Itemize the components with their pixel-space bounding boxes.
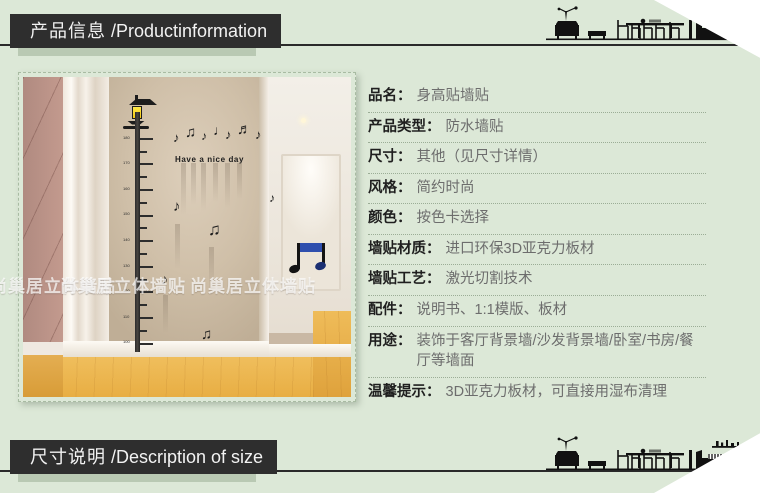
ruler-label: 100 bbox=[123, 339, 130, 344]
header-title-en-bottom: /Description of size bbox=[111, 448, 263, 466]
furniture-silhouette-strip-top bbox=[546, 2, 754, 44]
spec-value: 说明书、1:1模版、板材 bbox=[417, 300, 568, 321]
sticker-shadow bbox=[225, 163, 230, 208]
spec-label: 配件： bbox=[368, 300, 412, 321]
spec-row: 风格： 简约时尚 bbox=[368, 174, 706, 205]
product-spec-list: 品名： 身高贴墙贴 产品类型： 防水墙贴 尺寸： 其他（见尺寸详情） 风格： 简… bbox=[368, 82, 706, 407]
spec-label: 尺寸： bbox=[368, 147, 412, 168]
ruler-tick bbox=[140, 330, 147, 332]
header-box-top: 产品信息 /Productinformation bbox=[10, 14, 281, 48]
spec-label: 温馨提示： bbox=[368, 382, 441, 403]
lamp-roof-icon bbox=[129, 99, 157, 105]
spec-value: 进口环保3D亚克力板材 bbox=[446, 239, 595, 260]
spec-row: 品名： 身高贴墙贴 bbox=[368, 82, 706, 113]
ruler-label: 160 bbox=[123, 186, 130, 191]
ruler-tick bbox=[140, 317, 153, 319]
header-box-bottom: 尺寸说明 /Description of size bbox=[10, 440, 277, 474]
sticker-shadow bbox=[175, 224, 180, 269]
ruler-tick bbox=[140, 163, 153, 165]
ruler-tick bbox=[140, 176, 147, 178]
product-photo: 180 170 160 150 140 130 120 110 100 ♪ ♫ … bbox=[23, 77, 351, 397]
spec-value: 装饰于客厅背景墙/沙发背景墙/卧室/书房/餐厅等墙面 bbox=[417, 331, 707, 372]
watermark: 尚巢居立体墙贴 bbox=[60, 272, 186, 297]
spec-row-tip: 温馨提示： 3D亚克力板材，可直接用湿布清理 bbox=[368, 378, 706, 408]
product-photo-frame: 180 170 160 150 140 130 120 110 100 ♪ ♫ … bbox=[18, 72, 356, 402]
spec-row: 墙贴工艺： 激光切割技术 bbox=[368, 265, 706, 296]
ruler-tick bbox=[140, 253, 147, 255]
sofa-shelf-silhouette bbox=[689, 10, 746, 39]
furniture-silhouette-strip-bottom bbox=[546, 432, 754, 474]
sticker-shadow bbox=[181, 163, 186, 214]
armchair-silhouette bbox=[555, 6, 579, 40]
music-note-icon: ♬ bbox=[237, 122, 252, 137]
music-note-icon: ♪ bbox=[255, 128, 262, 141]
sticker-shadow bbox=[213, 163, 218, 201]
spec-value: 激光切割技术 bbox=[446, 269, 533, 290]
sticker-shadow bbox=[191, 163, 196, 205]
sticker-have-a-nice-day-text: Have a nice day bbox=[175, 155, 244, 164]
ruler-tick bbox=[140, 266, 153, 268]
photo-door-trim bbox=[63, 77, 109, 371]
sofa-shelf-silhouette bbox=[689, 440, 746, 469]
ruler-label: 130 bbox=[123, 263, 130, 268]
spec-row: 颜色： 按色卡选择 bbox=[368, 204, 706, 235]
spec-row: 配件： 说明书、1:1模版、板材 bbox=[368, 296, 706, 327]
spec-row: 尺寸： 其他（见尺寸详情） bbox=[368, 143, 706, 174]
armchair-silhouette bbox=[555, 436, 579, 470]
music-note-icon: ♪ bbox=[173, 131, 180, 144]
header-title-en-top: /Productinformation bbox=[111, 22, 267, 40]
ruler-tick bbox=[140, 240, 153, 242]
music-note-icon: ♫ bbox=[208, 221, 221, 238]
sticker-shadow bbox=[201, 163, 206, 211]
ruler-label: 170 bbox=[123, 160, 130, 165]
photo-wood-wall bbox=[23, 77, 63, 359]
sticker-shadow bbox=[237, 163, 242, 198]
photo-baseboard bbox=[63, 341, 269, 357]
spec-value: 3D亚克力板材，可直接用湿布清理 bbox=[446, 382, 668, 403]
spec-row: 墙贴材质： 进口环保3D亚克力板材 bbox=[368, 235, 706, 266]
ruler-tick bbox=[140, 343, 153, 345]
photo-wall-divider bbox=[259, 77, 269, 371]
music-note-icon: ♫ bbox=[201, 327, 212, 342]
dining-table-chairs-silhouette bbox=[618, 450, 679, 469]
spec-label: 用途： bbox=[368, 331, 412, 352]
ruler-label: 180 bbox=[123, 135, 130, 140]
music-note-icon: ♪ bbox=[173, 199, 181, 214]
spec-value: 简约时尚 bbox=[417, 178, 475, 199]
spec-value: 按色卡选择 bbox=[417, 208, 490, 229]
photo-baseboard-right bbox=[269, 344, 351, 357]
ruler-label: 140 bbox=[123, 237, 130, 242]
photo-floor-left bbox=[23, 355, 63, 397]
ruler-tick bbox=[140, 151, 147, 153]
blue-eighth-note-icon bbox=[287, 243, 325, 275]
ruler-label: 110 bbox=[123, 314, 129, 319]
ruler-tick bbox=[140, 202, 147, 204]
ruler-tick bbox=[140, 227, 147, 229]
ruler-tick bbox=[140, 215, 153, 217]
spec-row: 用途： 装饰于客厅背景墙/沙发背景墙/卧室/书房/餐厅等墙面 bbox=[368, 327, 706, 378]
spec-label: 品名： bbox=[368, 86, 412, 107]
ruler-tick bbox=[140, 189, 153, 191]
spec-value: 身高贴墙贴 bbox=[417, 86, 490, 107]
spec-label: 颜色： bbox=[368, 208, 412, 229]
ottoman-silhouette bbox=[588, 461, 606, 469]
photo-floor bbox=[23, 355, 351, 397]
photo-ceiling-spot bbox=[301, 118, 306, 123]
spec-label: 风格： bbox=[368, 178, 412, 199]
ruler-tick bbox=[140, 304, 147, 306]
spec-row: 产品类型： 防水墙贴 bbox=[368, 113, 706, 144]
spec-label: 墙贴材质： bbox=[368, 239, 441, 260]
header-title-cn-top: 产品信息 bbox=[30, 22, 106, 40]
sticker-shadow bbox=[163, 295, 168, 333]
watermark: 尚巢居立体墙贴 bbox=[190, 272, 316, 297]
product-info-page: 产品信息 /Productinformation bbox=[0, 0, 760, 493]
ruler-tick bbox=[140, 138, 153, 140]
music-note-icon: ♪ bbox=[201, 130, 207, 142]
music-note-icon: ♫ bbox=[185, 125, 196, 140]
music-note-icon: ♪ bbox=[225, 128, 232, 141]
spec-label: 墙贴工艺： bbox=[368, 269, 441, 290]
header-title-cn-bottom: 尺寸说明 bbox=[30, 448, 106, 466]
spec-value: 其他（见尺寸详情） bbox=[417, 147, 548, 168]
music-note-icon: ♪ bbox=[269, 192, 275, 204]
spec-label: 产品类型： bbox=[368, 117, 441, 138]
ruler-label: 150 bbox=[123, 211, 130, 216]
ottoman-silhouette bbox=[588, 31, 606, 39]
dining-table-chairs-silhouette bbox=[618, 20, 679, 39]
spec-value: 防水墙贴 bbox=[446, 117, 504, 138]
